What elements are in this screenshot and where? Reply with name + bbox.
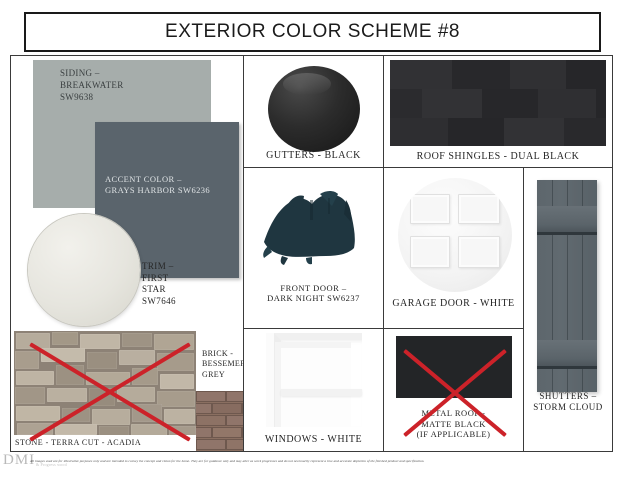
panel-gutters[interactable]: GUTTERS - BLACK bbox=[244, 56, 384, 168]
garage-door-image bbox=[398, 178, 512, 292]
shutters-caption: SHUTTERS – STORM CLOUD bbox=[524, 391, 612, 414]
panel-garage-door[interactable]: GARAGE DOOR - WHITE bbox=[384, 168, 524, 329]
stone-image bbox=[14, 331, 196, 435]
panel-siding[interactable]: SIDING – BREAKWATER SW9638 ACCENT COLOR … bbox=[11, 56, 244, 329]
windows-caption: WINDOWS - WHITE bbox=[244, 434, 383, 447]
gutters-swatch bbox=[268, 66, 360, 152]
shutters-image bbox=[537, 180, 597, 392]
trim-swatch bbox=[28, 214, 140, 326]
panel-windows[interactable]: WINDOWS - WHITE bbox=[244, 329, 384, 451]
front-door-paint-swatch bbox=[258, 184, 370, 266]
roof-shingles-caption: ROOF SHINGLES - DUAL BLACK bbox=[384, 151, 612, 164]
panel-front-door[interactable]: FRONT DOOR – DARK NIGHT SW6237 bbox=[244, 168, 384, 329]
brick-label: BRICK - BESSEMER GREY bbox=[199, 347, 244, 382]
garage-door-caption: GARAGE DOOR - WHITE bbox=[384, 298, 523, 311]
siding-label: SIDING – BREAKWATER SW9638 bbox=[60, 68, 124, 104]
color-scheme-board: EXTERIOR COLOR SCHEME #8 SIDING – BREAKW… bbox=[0, 0, 621, 480]
front-door-caption: FRONT DOOR – DARK NIGHT SW6237 bbox=[244, 283, 383, 304]
disclaimer-text: All images used are for illustrative pur… bbox=[30, 459, 610, 464]
trim-label: TRIM – FIRST STAR SW7646 bbox=[142, 261, 176, 308]
stone-caption: STONE - TERRA CUT - ACADIA bbox=[15, 438, 141, 448]
metal-roof-caption: METAL ROOF - MATTE BLACK (IF APPLICABLE) bbox=[384, 408, 523, 440]
accent-color-label: ACCENT COLOR – GRAYS HARBOR SW6236 bbox=[105, 174, 210, 197]
panel-shutters[interactable]: SHUTTERS – STORM CLOUD bbox=[524, 168, 612, 451]
brick-image bbox=[196, 391, 244, 451]
page-title: EXTERIOR COLOR SCHEME #8 bbox=[165, 21, 460, 43]
panel-stone[interactable]: BRICK - BESSEMER GREY STONE - TERRA CUT … bbox=[11, 329, 244, 451]
metal-roof-image bbox=[396, 336, 512, 398]
panel-metal-roof[interactable]: METAL ROOF - MATTE BLACK (IF APPLICABLE) bbox=[384, 329, 524, 451]
windows-image bbox=[266, 333, 362, 427]
panel-roof-shingles[interactable]: ROOF SHINGLES - DUAL BLACK bbox=[384, 56, 612, 168]
gutters-caption: GUTTERS - BLACK bbox=[244, 150, 383, 163]
panel-grid: SIDING – BREAKWATER SW9638 ACCENT COLOR … bbox=[10, 55, 613, 452]
roof-shingles-image bbox=[390, 60, 606, 146]
board-title: EXTERIOR COLOR SCHEME #8 bbox=[24, 12, 601, 52]
